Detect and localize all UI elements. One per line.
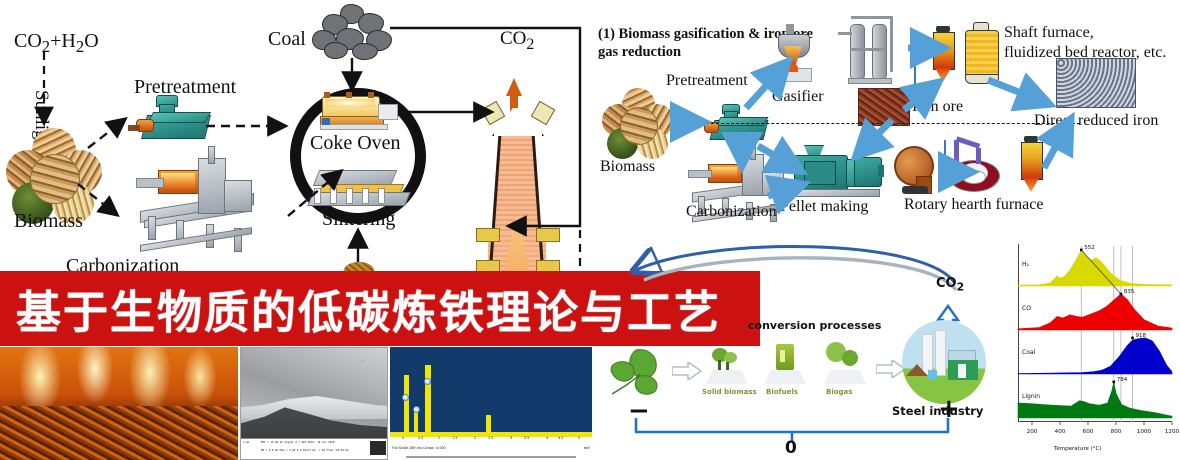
rotary-hearth-furnace-image xyxy=(942,138,1004,194)
sintering-machine-image xyxy=(310,168,410,210)
direct-reduced-iron-label: Direct reduced iron xyxy=(1034,112,1158,130)
chart-frame xyxy=(1018,244,1172,422)
svg-text:600: 600 xyxy=(1083,429,1094,435)
coal-heap-image xyxy=(310,4,396,58)
dashed-separator xyxy=(676,123,1080,124)
sem-status-row1: EHT = 15.00 kV Signal A = SE2 Date: 19 J… xyxy=(261,441,334,444)
shaft-furnace-label-line1: Shaft furnace, xyxy=(1004,24,1094,42)
biomass-combustion-photo xyxy=(0,347,238,460)
zero-sign: 0 xyxy=(785,438,797,458)
eds-peak-ca xyxy=(486,415,491,437)
coke-oven-image xyxy=(318,92,402,132)
pellet-making-machine-image xyxy=(790,145,886,203)
conversion-processes-label: conversion processes xyxy=(748,319,881,332)
eds-peak-c xyxy=(404,375,409,437)
biomass-label-right: Biomass xyxy=(600,158,655,176)
svg-text:400: 400 xyxy=(1055,429,1066,435)
biogas-label: Biogas xyxy=(826,388,852,396)
sem-annotation-marker: ▫ xyxy=(362,359,364,364)
carbon-neutral-cycle-diagram: CO2 conversion processes Solid biomass B… xyxy=(592,236,996,460)
biomass-cluster-image-right xyxy=(602,88,674,160)
biogas-icon xyxy=(822,340,868,388)
gasifier-label: Gasifier xyxy=(772,88,824,106)
eds-spectrum: 0 0.5 1 1.5 2 2.5 3 3.5 4 4.5 5 Full Sca… xyxy=(390,347,592,460)
co2-output-label: CO2 xyxy=(500,28,534,54)
sem-status-bar: 2 µm EHT = 15.00 kV Signal A = SE2 Date:… xyxy=(241,438,387,459)
pretreatment-machine-image-right xyxy=(700,104,770,144)
svg-text:800: 800 xyxy=(1111,429,1122,435)
sem-micrograph: ▫ 2 µm EHT = 15.00 kV Signal A = SE2 Dat… xyxy=(240,347,388,460)
solid-biomass-label: Solid biomass xyxy=(702,388,757,396)
co2-h2o-label: CO2+H2O xyxy=(14,30,99,57)
svg-text:1000: 1000 xyxy=(1137,429,1152,435)
tg-ms-spectra-chart: H₂552CO835Coal918Lignin78420040060080010… xyxy=(996,238,1178,458)
coal-label: Coal xyxy=(268,28,306,51)
gasifier-image xyxy=(770,24,832,88)
carbonization-label-right: Carbonization xyxy=(686,203,777,221)
leaf-icon xyxy=(606,342,668,398)
pellet-making-label: Pellet making xyxy=(780,198,868,216)
steel-industry-icon xyxy=(902,320,986,404)
gasifier-columns-image xyxy=(838,14,906,88)
ember-bed xyxy=(0,406,238,460)
pretreatment-label: Pretreatment xyxy=(134,76,236,99)
eds-peak-fe xyxy=(425,365,431,437)
iron-ore-label: Iron ore xyxy=(912,98,963,116)
arrow-to-solid-biomass xyxy=(672,362,702,385)
sem-scalebar-label: 2 µm xyxy=(243,441,249,444)
sintering-label: Sintering xyxy=(322,208,395,231)
co2-cycle-label: CO2 xyxy=(936,276,964,294)
sem-status-row2: WD = 9.8 mm Mag = 2.00 K X Photo No. = 6… xyxy=(261,449,348,452)
carbonization-machine-image xyxy=(130,150,260,250)
coke-oven-label: Coke Oven xyxy=(310,132,401,155)
svg-text:1200: 1200 xyxy=(1165,429,1180,435)
fluidized-bed-reactor-icon xyxy=(964,22,998,86)
eds-label-dot-2 xyxy=(413,406,420,413)
eds-scroll-bar[interactable] xyxy=(406,456,576,458)
iron-ore-photo xyxy=(858,88,910,126)
eds-plot-area xyxy=(390,347,592,437)
eds-xaxis-ticks: 0 0.5 1 1.5 2 2.5 3 3.5 4 4.5 5 xyxy=(390,436,592,444)
shaft-furnace-icon-bottom xyxy=(1020,136,1044,194)
shaft-furnace-icon-top xyxy=(932,26,956,84)
solid-biomass-icon xyxy=(706,346,748,388)
direct-reduced-iron-photo xyxy=(1056,58,1136,108)
pretreatment-label-right: Pretreatment xyxy=(666,72,748,90)
minus-sign: − xyxy=(628,396,650,426)
right-panel-heading-line2: gas reduction xyxy=(598,44,681,61)
disc-pelletizer-image xyxy=(892,146,938,200)
eds-footer-text: Full Scale 289 cts Cursor: 0.000 xyxy=(392,446,446,450)
biofuels-label: Biofuels xyxy=(766,388,798,396)
plus-sign: + xyxy=(938,394,960,424)
svg-text:200: 200 xyxy=(1027,429,1038,435)
sem-logo-block xyxy=(370,441,386,455)
divider-line-1 xyxy=(914,58,916,102)
pretreatment-machine-image xyxy=(128,95,216,143)
biomass-label: Biomass xyxy=(14,210,83,233)
rotary-hearth-furnace-label: Rotary hearth furnace xyxy=(904,196,1043,214)
eds-unit-label: keV xyxy=(584,446,590,450)
biofuels-icon xyxy=(764,344,806,388)
chart-xaxis-title: Temperature (°C) xyxy=(1054,446,1101,452)
